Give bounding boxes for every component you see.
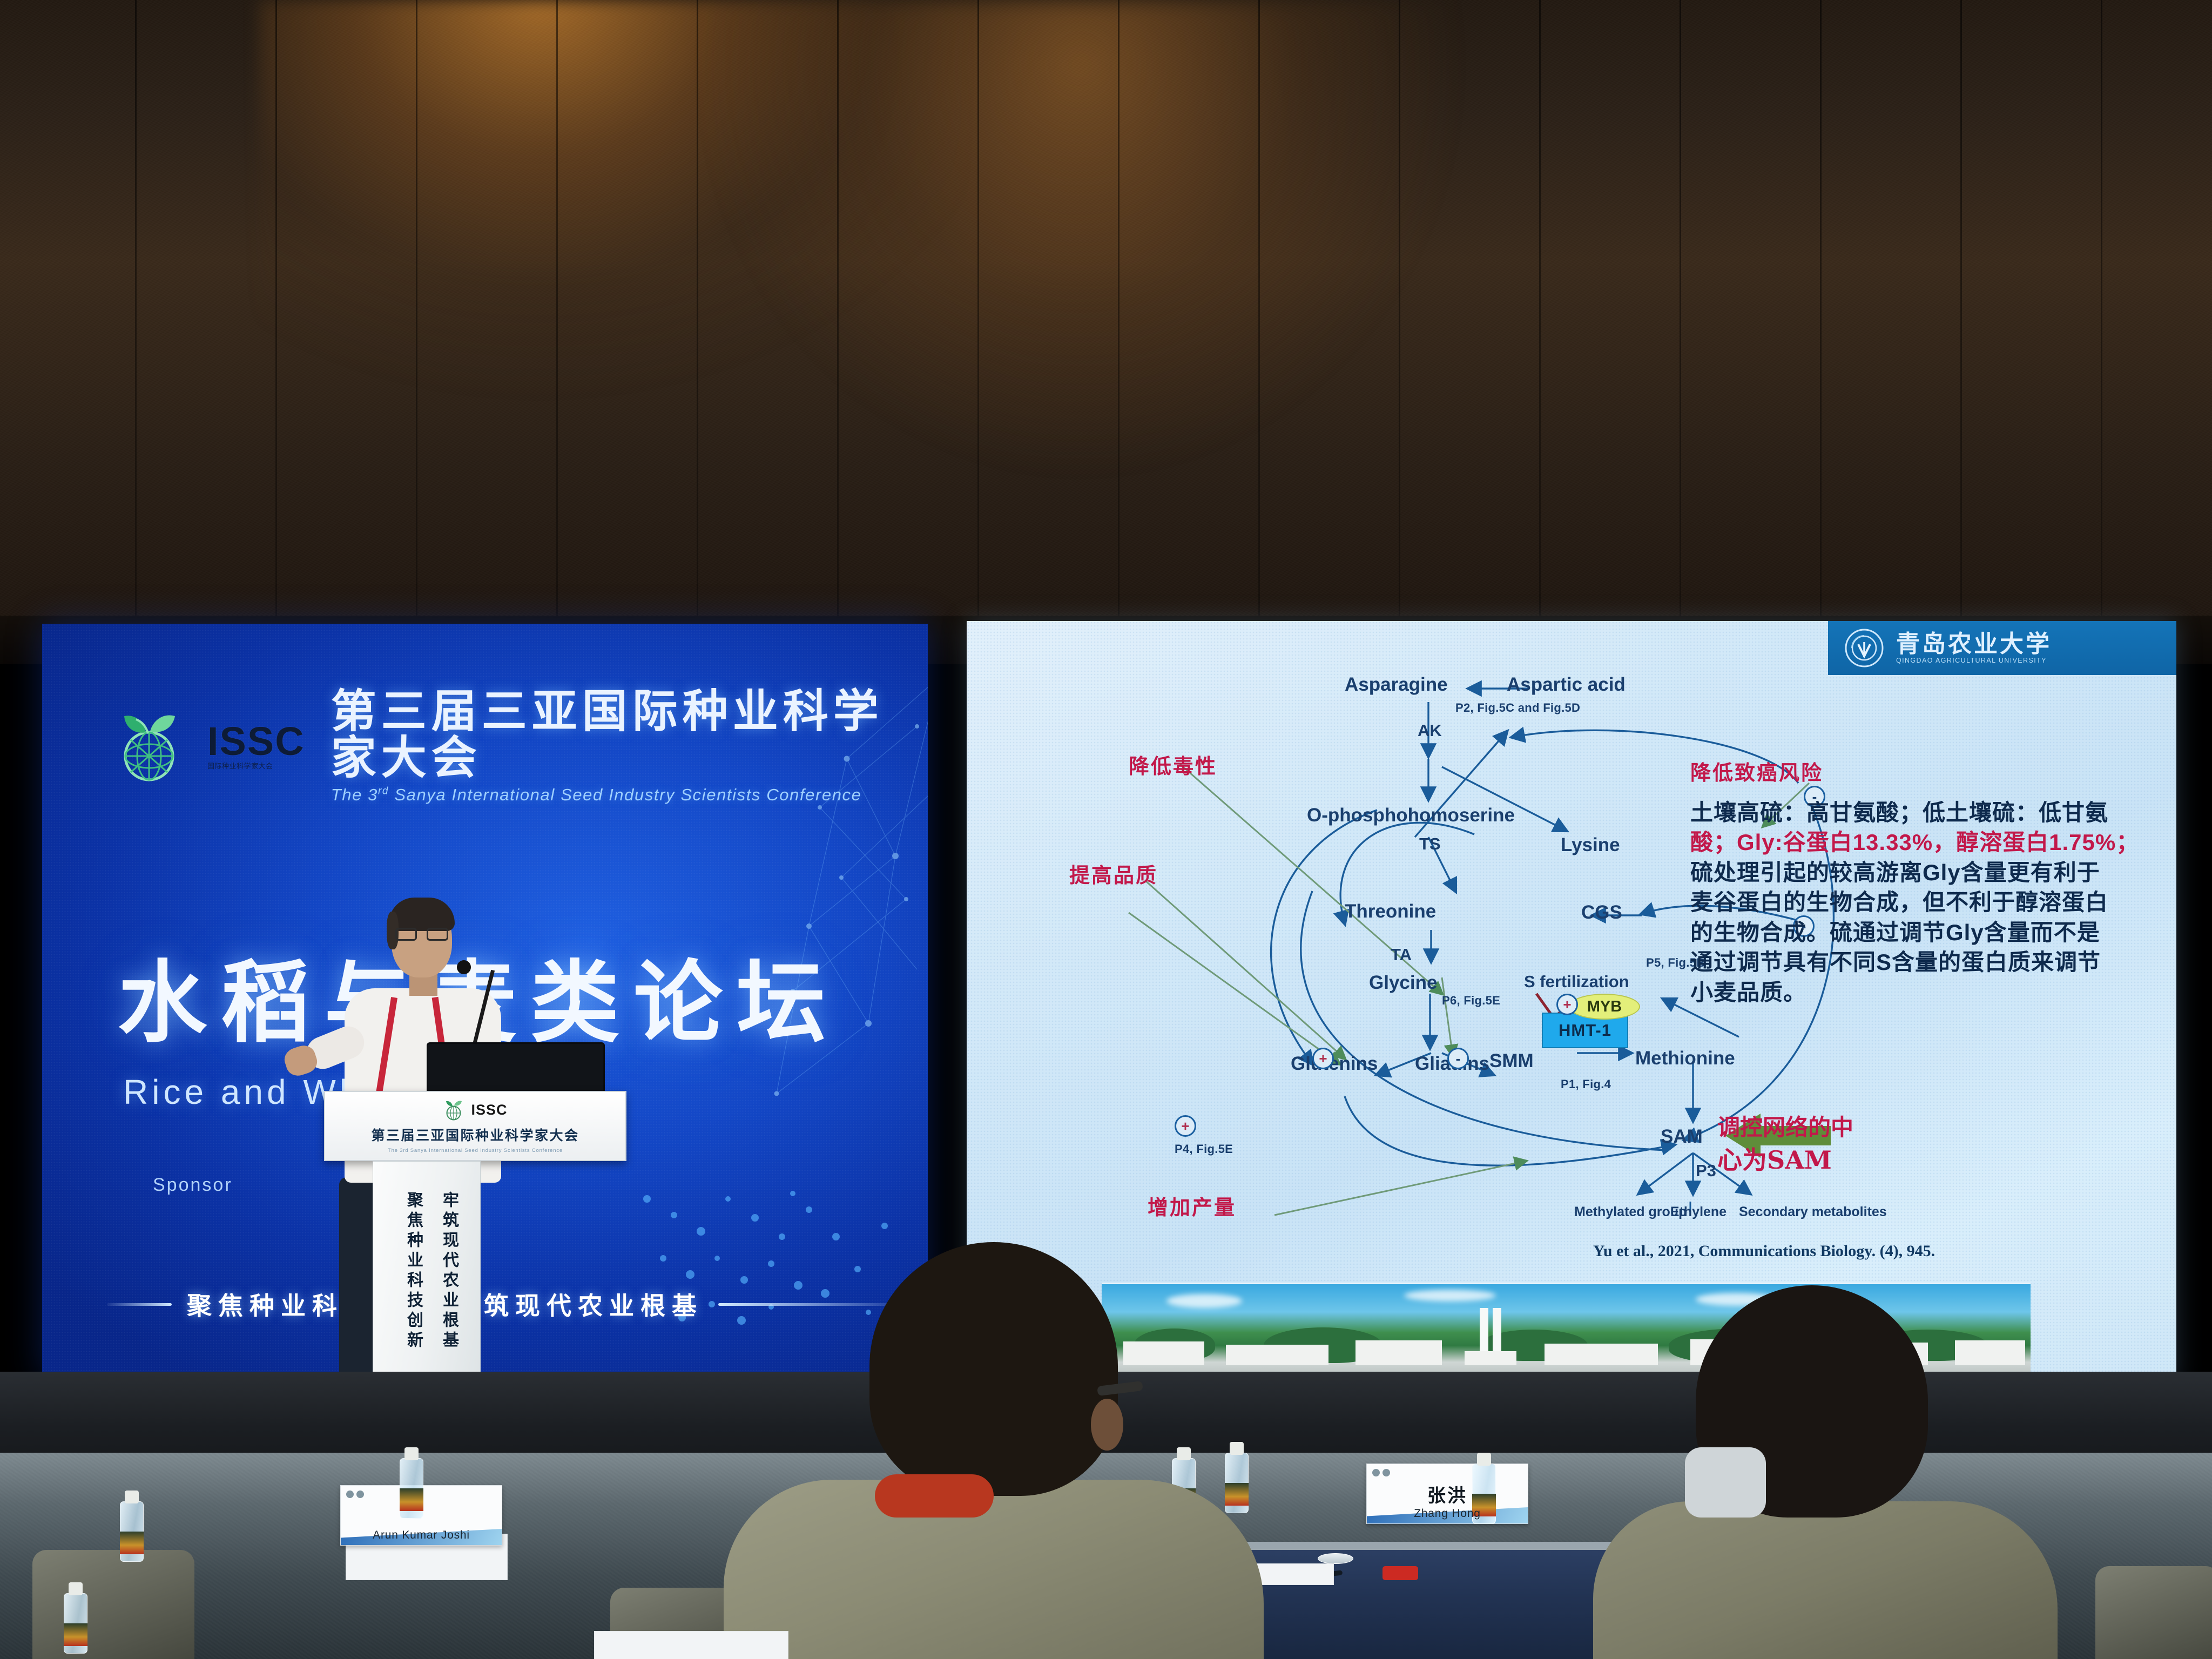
- edge-label-p4: P4, Fig.5E: [1175, 1142, 1233, 1156]
- back-wall: [0, 0, 2212, 653]
- node-methionine: Methionine: [1635, 1048, 1735, 1069]
- slide-body-line-4: 麦谷蛋白的生物合成，但不利于醇溶蛋白: [1690, 887, 2176, 917]
- slide-body-line-2: 酸；Gly:谷蛋白13.33%，醇溶蛋白1.75%；: [1690, 827, 2176, 857]
- annotation-increase-yield: 增加产量: [1148, 1191, 1236, 1220]
- node-asparagine: Asparagine: [1345, 674, 1448, 696]
- name-card-logos-right: [1372, 1469, 1415, 1478]
- audience-1-head: [869, 1242, 1118, 1496]
- wall-panel-seams: [0, 0, 2212, 653]
- annotation-improve-quality: 提高品质: [1069, 859, 1158, 888]
- edge-label-p2: P2, Fig.5C and Fig.5D: [1455, 701, 1580, 715]
- node-o-phosphohomoserine: O-phosphohomoserine: [1307, 805, 1515, 826]
- node-s-fertilization: S fertilization: [1524, 972, 1629, 992]
- name-card-en-right: Zhang Hong: [1414, 1507, 1481, 1520]
- slide-body-line-5: 的生物合成。硫通过调节Gly含量而不是: [1690, 918, 2176, 947]
- slide-text-block: 降低致癌风险 土壤高硫：高甘氨酸；低土壤硫：低甘氨 酸；Gly:谷蛋白13.33…: [1690, 756, 2176, 1007]
- sam-callout: 调控网络的中 心为SAM: [1717, 1112, 1853, 1177]
- node-aspartic-acid: Aspartic acid: [1507, 674, 1626, 696]
- annotation-reduce-toxicity: 降低毒性: [1129, 750, 1217, 779]
- conference-title-cn: 第三届三亚国际种业科学家大会: [331, 689, 928, 781]
- lectern-conference-en: The 3rd Sanya International Seed Industr…: [388, 1148, 563, 1154]
- slide-body-line-3: 硫处理引起的较高游离Gly含量更有利于: [1690, 858, 2176, 887]
- node-sam: SAM: [1661, 1126, 1703, 1148]
- speaker-hair: [389, 898, 455, 931]
- edge-label-p1: P1, Fig.4: [1561, 1077, 1611, 1091]
- audience-1-ear: [1091, 1399, 1123, 1451]
- chair-left: [32, 1550, 194, 1659]
- node-threonine: Threonine: [1345, 901, 1436, 922]
- issc-seed-globe-icon: [112, 706, 189, 787]
- saucer-plate: [1318, 1553, 1353, 1564]
- audience-member-front-right: [1593, 1285, 2052, 1659]
- lectern-plate: ISSC 第三届三亚国际种业科学家大会 The 3rd Sanya Intern…: [324, 1091, 626, 1161]
- annotation-reduce-cancer-risk: 降低致癌风险: [1690, 756, 2176, 786]
- slogan-rule-left: [107, 1303, 172, 1306]
- name-card-cn-right: 张洪: [1427, 1481, 1467, 1507]
- node-glutenins: Glutenins: [1291, 1053, 1378, 1075]
- issc-title-block: 第三届三亚国际种业科学家大会 The 3rd Sanya Internation…: [331, 689, 928, 805]
- node-ethylene: Ethylene: [1661, 1204, 1736, 1220]
- regulator-plus-1: +: [1312, 1048, 1334, 1069]
- speaker-glasses: [395, 928, 448, 941]
- lectern-issc-abbr: ISSC: [471, 1102, 507, 1118]
- lectern-vertical-text-right: 牢筑现代农业根基: [437, 1191, 461, 1351]
- node-cgs: CGS: [1581, 902, 1622, 923]
- conference-title-en: The 3rd Sanya International Seed Industr…: [331, 785, 928, 805]
- slide-body-line-6: 通过调节具有不同S含量的蛋白质来调节: [1690, 947, 2176, 977]
- slide-body-line-1: 土壤高硫：高甘氨酸；低土壤硫：低甘氨: [1690, 798, 2176, 827]
- regulator-minus-1: -: [1447, 1048, 1469, 1069]
- edge-label-p3: P3: [1696, 1161, 1716, 1181]
- lectern-logo-row: ISSC: [443, 1099, 507, 1122]
- node-methylated-group: Methylated group: [1574, 1204, 1671, 1220]
- node-ts: TS: [1419, 834, 1441, 854]
- node-smm: SMM: [1489, 1050, 1534, 1072]
- sam-callout-line-2: 心为SAM: [1717, 1143, 1853, 1177]
- sam-callout-line-1: 调控网络的中: [1717, 1112, 1853, 1143]
- lectern-body: 牢筑现代农业根基 聚焦种业科技创新: [373, 1161, 481, 1399]
- regulator-plus-3: +: [1556, 994, 1578, 1015]
- water-bottle-6: [64, 1582, 87, 1654]
- node-lysine: Lysine: [1561, 834, 1620, 856]
- audience-member-front-left: [713, 1242, 1253, 1659]
- table-paper-foreground: [594, 1631, 788, 1659]
- microphone-head-icon: [457, 960, 471, 974]
- slogan-right: 牢筑现代农业根基: [453, 1286, 703, 1322]
- chair-far-right: [2095, 1566, 2212, 1659]
- conference-photo: ISSC 国际种业科学家大会 第三届三亚国际种业科学家大会 The 3rd Sa…: [0, 0, 2212, 1659]
- node-ak: AK: [1418, 721, 1442, 740]
- sponsor-label: Sponsor: [153, 1175, 233, 1196]
- regulator-plus-2: +: [1175, 1115, 1196, 1137]
- audience-1-lanyard: [875, 1474, 994, 1518]
- audience-1-shirt: [724, 1480, 1264, 1659]
- issc-header-lockup: ISSC 国际种业科学家大会 第三届三亚国际种业科学家大会 The 3rd Sa…: [112, 689, 928, 805]
- node-myb-ellipse: MYB: [1569, 994, 1640, 1020]
- lectern-conference-cn: 第三届三亚国际种业科学家大会: [371, 1125, 579, 1144]
- issc-seed-globe-icon-small: [443, 1099, 464, 1122]
- node-secondary-metabolites: Secondary metabolites: [1739, 1204, 1836, 1220]
- audience-2-face-mask: [1685, 1447, 1766, 1518]
- edge-label-p6: P6, Fig.5E: [1442, 994, 1500, 1008]
- lectern-vertical-text-left: 聚焦种业科技创新: [401, 1191, 425, 1351]
- red-desk-object: [1382, 1566, 1418, 1580]
- name-card-en-left: Arun Kumar Joshi: [373, 1529, 470, 1542]
- issc-abbr-subtitle: 国际种业科学家大会: [207, 760, 273, 771]
- node-ta: TA: [1391, 945, 1412, 965]
- water-bottle-1: [120, 1491, 144, 1562]
- issc-abbr: ISSC: [207, 723, 305, 760]
- audience-2-shirt: [1593, 1501, 2058, 1659]
- issc-abbreviation-block: ISSC 国际种业科学家大会: [207, 723, 305, 771]
- name-card-right: 张洪 Zhang Hong: [1366, 1464, 1528, 1524]
- slide-body-line-7: 小麦品质。: [1690, 977, 2176, 1007]
- water-bottle-2: [400, 1447, 423, 1519]
- slide-citation: Yu et al., 2021, Communications Biology.…: [1593, 1242, 1935, 1260]
- name-card-logos-left: [346, 1491, 389, 1499]
- node-glycine: Glycine: [1369, 972, 1437, 994]
